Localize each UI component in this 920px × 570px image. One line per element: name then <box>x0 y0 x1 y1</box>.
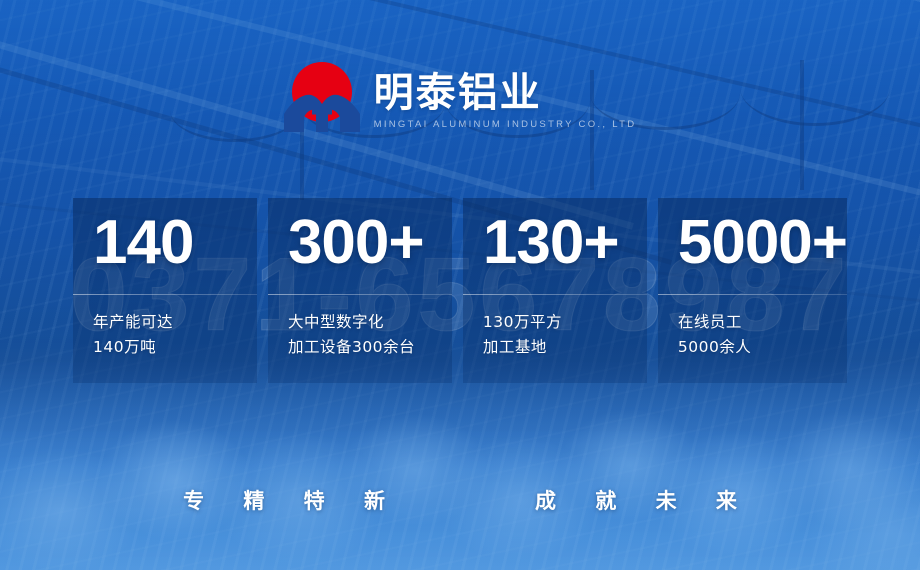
stat-card: 140 年产能可达 140万吨 <box>73 198 257 383</box>
stat-description: 在线员工 5000余人 <box>678 310 751 360</box>
company-banner: 0371-65678987 明泰铝业 MINGTAI ALUMINUM INDU… <box>0 0 920 570</box>
stat-description-line1: 年产能可达 <box>93 310 173 335</box>
stat-description: 130万平方 加工基地 <box>483 310 562 360</box>
stats-card-row: 140 年产能可达 140万吨 300+ 大中型数字化 加工设备300余台 13… <box>73 198 847 383</box>
company-logo: 明泰铝业 MINGTAI ALUMINUM INDUSTRY CO., LTD <box>0 62 920 132</box>
stat-description-line2: 5000余人 <box>678 335 751 360</box>
stat-card: 5000+ 在线员工 5000余人 <box>658 198 847 383</box>
stat-description-line1: 在线员工 <box>678 310 751 335</box>
stat-divider <box>463 294 647 295</box>
stat-number: 300+ <box>288 212 452 274</box>
bottom-tagline: 专 精 特 新 成 就 未 来 <box>0 485 920 515</box>
stat-description-line2: 加工设备300余台 <box>288 335 415 360</box>
tagline-right: 成 就 未 来 <box>519 485 753 515</box>
logo-text-block: 明泰铝业 MINGTAI ALUMINUM INDUSTRY CO., LTD <box>374 73 637 132</box>
stat-description-line1: 大中型数字化 <box>288 310 415 335</box>
stat-number: 140 <box>93 212 257 274</box>
blue-mountain-m-icon <box>284 90 360 132</box>
stat-description-line2: 加工基地 <box>483 335 562 360</box>
stat-card: 300+ 大中型数字化 加工设备300余台 <box>268 198 452 383</box>
stat-card: 130+ 130万平方 加工基地 <box>463 198 647 383</box>
stat-divider <box>73 294 257 295</box>
company-name-cn: 明泰铝业 <box>374 73 637 113</box>
stat-divider <box>658 294 847 295</box>
logo-mark <box>284 62 360 132</box>
tagline-left: 专 精 特 新 <box>167 485 401 515</box>
company-name-en: MINGTAI ALUMINUM INDUSTRY CO., LTD <box>374 119 637 130</box>
stat-divider <box>268 294 452 295</box>
stat-description: 大中型数字化 加工设备300余台 <box>288 310 415 360</box>
stat-description: 年产能可达 140万吨 <box>93 310 173 360</box>
stat-number: 5000+ <box>678 212 847 274</box>
stat-number: 130+ <box>483 212 647 274</box>
stat-description-line1: 130万平方 <box>483 310 562 335</box>
stat-description-line2: 140万吨 <box>93 335 173 360</box>
